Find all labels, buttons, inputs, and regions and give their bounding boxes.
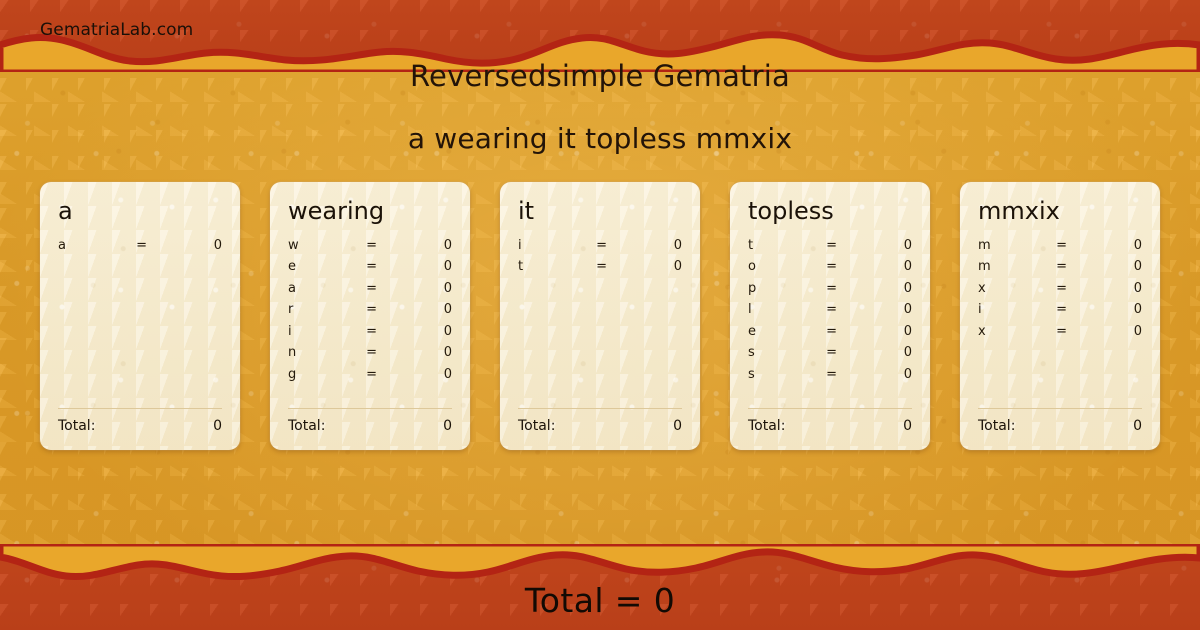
equals-sign: = [350, 345, 393, 360]
letter: i [978, 302, 1040, 317]
letter-row-list: a = 0 [58, 235, 222, 257]
letter-row: t = 0 [518, 256, 682, 278]
letter-row: a = 0 [58, 235, 222, 257]
word-card: wearing w = 0 e = 0 a = 0 r = 0 [270, 182, 470, 450]
letter-value: 0 [393, 324, 452, 339]
word-card-list: a a = 0 Total: 0 wearing w = 0 e [40, 182, 1160, 450]
equals-sign: = [810, 324, 853, 339]
letter-row: e = 0 [748, 321, 912, 343]
letter: o [748, 259, 810, 274]
equals-sign: = [1040, 302, 1083, 317]
site-label: GematriaLab.com [40, 20, 193, 40]
card-total-label: Total: [518, 418, 555, 434]
card-word-title: topless [748, 198, 912, 226]
equals-sign: = [1040, 324, 1083, 339]
letter-row: m = 0 [978, 235, 1142, 257]
letter-row: i = 0 [978, 299, 1142, 321]
letter: e [748, 324, 810, 339]
word-card: a a = 0 Total: 0 [40, 182, 240, 450]
letter-value: 0 [393, 302, 452, 317]
letter-value: 0 [1083, 259, 1142, 274]
letter: i [288, 324, 350, 339]
card-total-area: Total: 0 [58, 408, 222, 434]
letter: i [518, 238, 580, 253]
card-total-area: Total: 0 [288, 408, 452, 434]
card-total-area: Total: 0 [978, 408, 1142, 434]
equals-sign: = [810, 367, 853, 382]
grand-total: Total = 0 [0, 581, 1200, 620]
equals-sign: = [350, 259, 393, 274]
equals-sign: = [810, 345, 853, 360]
letter-value: 0 [853, 281, 912, 296]
card-total-label: Total: [58, 418, 95, 434]
equals-sign: = [810, 281, 853, 296]
letter-value: 0 [393, 238, 452, 253]
letter-value: 0 [1083, 302, 1142, 317]
letter: a [58, 238, 120, 253]
card-total-value: 0 [673, 418, 682, 434]
letter: t [518, 259, 580, 274]
equals-sign: = [350, 281, 393, 296]
letter-value: 0 [1083, 238, 1142, 253]
word-card: mmxix m = 0 m = 0 x = 0 i = 0 [960, 182, 1160, 450]
letter: r [288, 302, 350, 317]
equals-sign: = [1040, 259, 1083, 274]
letter-row-list: m = 0 m = 0 x = 0 i = 0 x = 0 [978, 235, 1142, 343]
letter-row: s = 0 [748, 342, 912, 364]
letter-value: 0 [853, 345, 912, 360]
letter-row: i = 0 [518, 235, 682, 257]
letter-row: e = 0 [288, 256, 452, 278]
card-total-label: Total: [288, 418, 325, 434]
word-card: it i = 0 t = 0 Total: 0 [500, 182, 700, 450]
letter: t [748, 238, 810, 253]
card-total-line: Total: 0 [748, 418, 912, 434]
letter-row: p = 0 [748, 278, 912, 300]
letter: p [748, 281, 810, 296]
equals-sign: = [810, 259, 853, 274]
equals-sign: = [350, 367, 393, 382]
card-total-area: Total: 0 [748, 408, 912, 434]
letter-value: 0 [1083, 324, 1142, 339]
card-word-title: wearing [288, 198, 452, 226]
letter-row: a = 0 [288, 278, 452, 300]
letter-value: 0 [393, 259, 452, 274]
card-divider [288, 408, 452, 409]
letter-row: l = 0 [748, 299, 912, 321]
letter-value: 0 [1083, 281, 1142, 296]
equals-sign: = [1040, 281, 1083, 296]
card-total-value: 0 [1133, 418, 1142, 434]
equals-sign: = [350, 302, 393, 317]
card-total-value: 0 [213, 418, 222, 434]
card-word-title: mmxix [978, 198, 1142, 226]
letter: x [978, 324, 1040, 339]
letter: x [978, 281, 1040, 296]
equals-sign: = [350, 238, 393, 253]
letter-value: 0 [853, 259, 912, 274]
letter-row-list: w = 0 e = 0 a = 0 r = 0 i = 0 [288, 235, 452, 386]
letter-row: r = 0 [288, 299, 452, 321]
card-divider [518, 408, 682, 409]
letter: a [288, 281, 350, 296]
card-divider [748, 408, 912, 409]
equals-sign: = [810, 302, 853, 317]
card-total-line: Total: 0 [518, 418, 682, 434]
letter-value: 0 [393, 281, 452, 296]
letter-value: 0 [623, 259, 682, 274]
card-total-label: Total: [978, 418, 1015, 434]
letter-value: 0 [623, 238, 682, 253]
equals-sign: = [810, 238, 853, 253]
letter-row: x = 0 [978, 278, 1142, 300]
letter: l [748, 302, 810, 317]
letter-value: 0 [853, 324, 912, 339]
letter-value: 0 [853, 302, 912, 317]
letter: e [288, 259, 350, 274]
letter: m [978, 259, 1040, 274]
equals-sign: = [580, 238, 623, 253]
equals-sign: = [120, 238, 163, 253]
equals-sign: = [580, 259, 623, 274]
card-total-value: 0 [443, 418, 452, 434]
letter: w [288, 238, 350, 253]
letter-row: s = 0 [748, 364, 912, 386]
letter-row: w = 0 [288, 235, 452, 257]
card-total-value: 0 [903, 418, 912, 434]
page-title: Reversedsimple Gematria [0, 59, 1200, 93]
card-total-line: Total: 0 [58, 418, 222, 434]
letter-row: g = 0 [288, 364, 452, 386]
letter-row-list: t = 0 o = 0 p = 0 l = 0 e = 0 [748, 235, 912, 386]
letter-value: 0 [393, 345, 452, 360]
card-word-title: it [518, 198, 682, 226]
equals-sign: = [1040, 238, 1083, 253]
page-phrase: a wearing it topless mmxix [0, 122, 1200, 155]
card-divider [978, 408, 1142, 409]
letter-value: 0 [393, 367, 452, 382]
letter-row: t = 0 [748, 235, 912, 257]
letter-row-list: i = 0 t = 0 [518, 235, 682, 278]
letter-value: 0 [853, 238, 912, 253]
card-total-line: Total: 0 [978, 418, 1142, 434]
letter-value: 0 [853, 367, 912, 382]
word-card: topless t = 0 o = 0 p = 0 l = 0 [730, 182, 930, 450]
letter: m [978, 238, 1040, 253]
equals-sign: = [350, 324, 393, 339]
letter-row: x = 0 [978, 321, 1142, 343]
letter: n [288, 345, 350, 360]
letter-row: o = 0 [748, 256, 912, 278]
card-divider [58, 408, 222, 409]
letter: s [748, 345, 810, 360]
card-total-label: Total: [748, 418, 785, 434]
letter-row: n = 0 [288, 342, 452, 364]
letter-value: 0 [163, 238, 222, 253]
letter: g [288, 367, 350, 382]
letter-row: m = 0 [978, 256, 1142, 278]
letter: s [748, 367, 810, 382]
card-word-title: a [58, 198, 222, 226]
card-total-area: Total: 0 [518, 408, 682, 434]
letter-row: i = 0 [288, 321, 452, 343]
card-total-line: Total: 0 [288, 418, 452, 434]
